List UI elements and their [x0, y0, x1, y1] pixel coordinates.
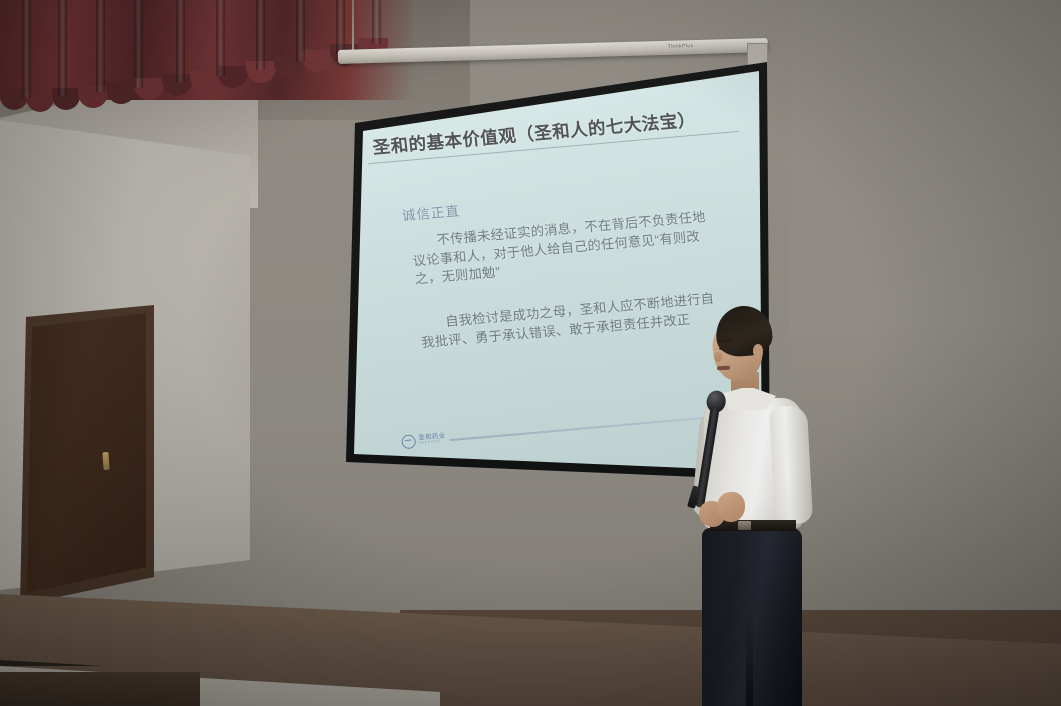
curtain-pleat: [372, 0, 381, 44]
presenter-mouth: [717, 366, 730, 371]
slide-paragraph-1: 不传播未经证实的消息，不在背后不负责任地议论事和人，对于他人给自己的任何意见“有…: [410, 208, 715, 290]
presenter-right-sleeve: [769, 405, 813, 525]
company-mark-icon: [401, 434, 416, 449]
presenter-nose: [714, 352, 722, 362]
presenter-shirt-collar: [720, 388, 776, 410]
curtain-pleat: [96, 0, 105, 92]
curtain-pleat: [256, 0, 265, 70]
slide-subtitle: 诚信正直: [401, 200, 461, 225]
curtain-pleat: [22, 0, 31, 98]
curtain-scallop: [106, 82, 136, 104]
presenter: [676, 306, 836, 706]
company-name-en: SANHONG: [419, 440, 446, 446]
door-handle[interactable]: [102, 452, 109, 470]
company-logo-text: 圣和药业 SANHONG: [418, 433, 446, 445]
curtain-pleat: [134, 0, 143, 88]
slide-title: 圣和的基本价值观（圣和人的七大法宝）: [371, 104, 722, 159]
presentation-photo-scene: ThinkPlus 圣和的基本价值观（圣和人的七大法宝） 诚信正直 不传播未经证…: [0, 0, 1061, 706]
curtain-pleat: [58, 0, 67, 96]
presenter-belt-buckle: [738, 521, 751, 530]
curtain-pleat: [176, 0, 185, 82]
curtain-pleat: [336, 0, 345, 54]
slide-company-logo: 圣和药业 SANHONG: [401, 429, 453, 450]
curtain-pleat: [216, 0, 225, 76]
presenter-trouser-crease: [746, 606, 753, 706]
presenter-ear: [753, 344, 763, 358]
stage-skirt: [0, 672, 200, 706]
presenter-right-hand: [717, 492, 745, 522]
side-door[interactable]: [12, 305, 154, 605]
curtain-pleat: [296, 0, 305, 62]
